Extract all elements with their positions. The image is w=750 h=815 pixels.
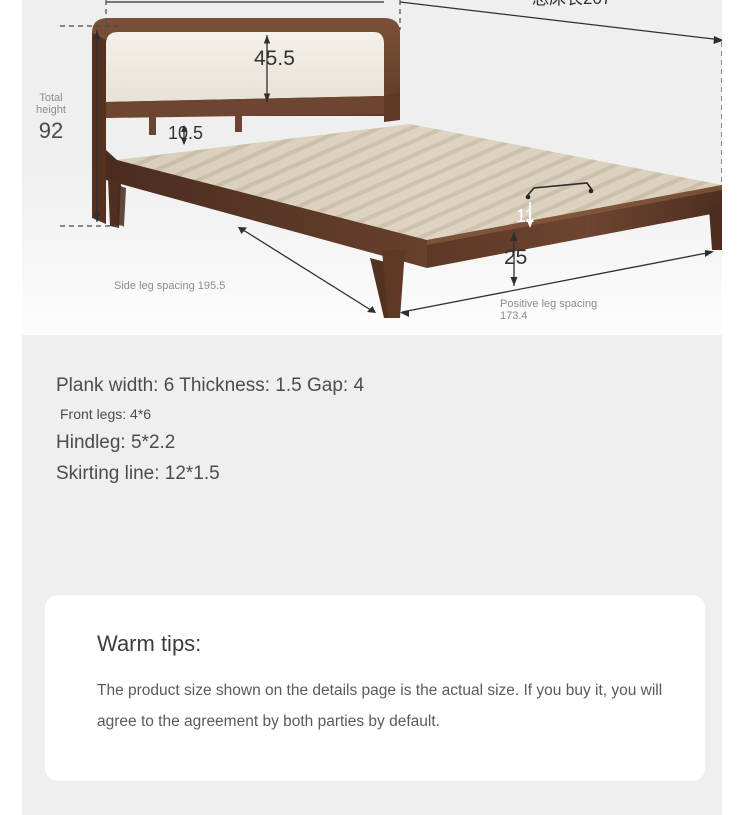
total-height-value: 92 — [28, 119, 74, 143]
page-root: Total height 92 45.5 10.5 11 25 Side leg… — [0, 0, 750, 815]
headboard-height-value: 45.5 — [254, 48, 295, 71]
spec-skirting-line: Skirting line: 12*1.5 — [22, 458, 722, 489]
side-leg-spacing-label: Side leg spacing 195.5 — [114, 281, 225, 293]
spec-front-legs: Front legs: 4*6 — [22, 401, 722, 427]
spec-hindleg: Hindleg: 5*2.2 — [22, 427, 722, 458]
warm-tips-body: The product size shown on the details pa… — [97, 675, 663, 737]
warm-tips-title: Warm tips: — [97, 631, 201, 657]
positive-leg-spacing-value: 173.4 — [500, 310, 528, 322]
warm-tips-card: Warm tips: The product size shown on the… — [45, 595, 705, 781]
frame-thickness-value: 11 — [516, 207, 535, 226]
headboard-fabric-panel — [106, 32, 384, 102]
headboard-gap-value: 10.5 — [168, 124, 203, 143]
positive-leg-spacing-label: Positive leg spacing — [500, 298, 597, 310]
total-height-caption: Total height — [28, 92, 74, 117]
floor-clearance-value: 25 — [504, 247, 527, 270]
spec-list: Plank width: 6 Thickness: 1.5 Gap: 4 Fro… — [22, 370, 722, 489]
spec-plank-width: Plank width: 6 Thickness: 1.5 Gap: 4 — [22, 370, 722, 401]
bed-dimension-diagram: Total height 92 45.5 10.5 11 25 Side leg… — [22, 0, 722, 335]
total-bed-length-label: 总床长207 — [532, 0, 611, 8]
headboard-left-post — [92, 33, 106, 224]
